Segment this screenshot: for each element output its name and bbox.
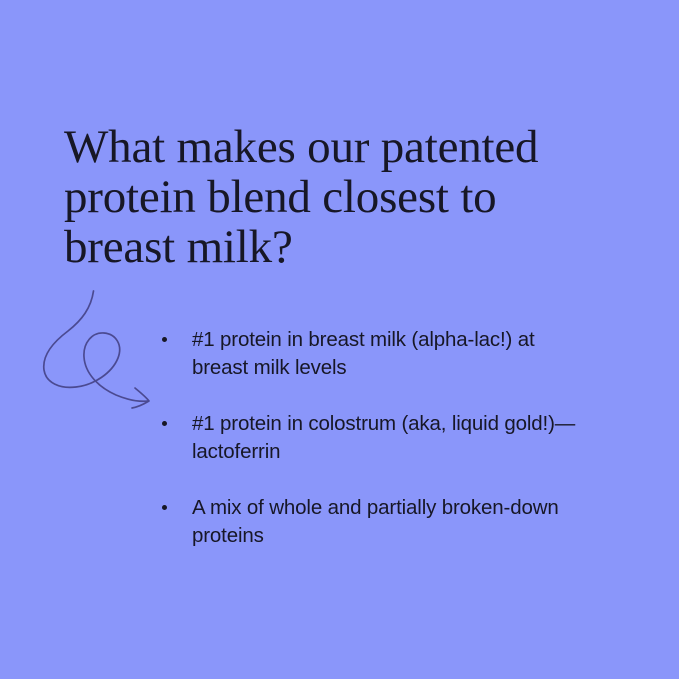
- bullet-marker-icon: [162, 505, 167, 510]
- curly-arrow-icon: [38, 288, 173, 423]
- bullet-marker-icon: [162, 337, 167, 342]
- list-item: #1 protein in colostrum (aka, liquid gol…: [160, 410, 580, 465]
- list-item-label: #1 protein in breast milk (alpha-lac!) a…: [192, 326, 580, 381]
- promotional-slide: What makes our patented protein blend cl…: [0, 0, 679, 679]
- list-item: A mix of whole and partially broken-down…: [160, 494, 580, 549]
- page-title: What makes our patented protein blend cl…: [64, 122, 584, 272]
- list-item-label: #1 protein in colostrum (aka, liquid gol…: [192, 410, 580, 465]
- benefits-list: #1 protein in breast milk (alpha-lac!) a…: [160, 326, 580, 549]
- list-item-label: A mix of whole and partially broken-down…: [192, 494, 580, 549]
- list-item: #1 protein in breast milk (alpha-lac!) a…: [160, 326, 580, 381]
- bullet-marker-icon: [162, 421, 167, 426]
